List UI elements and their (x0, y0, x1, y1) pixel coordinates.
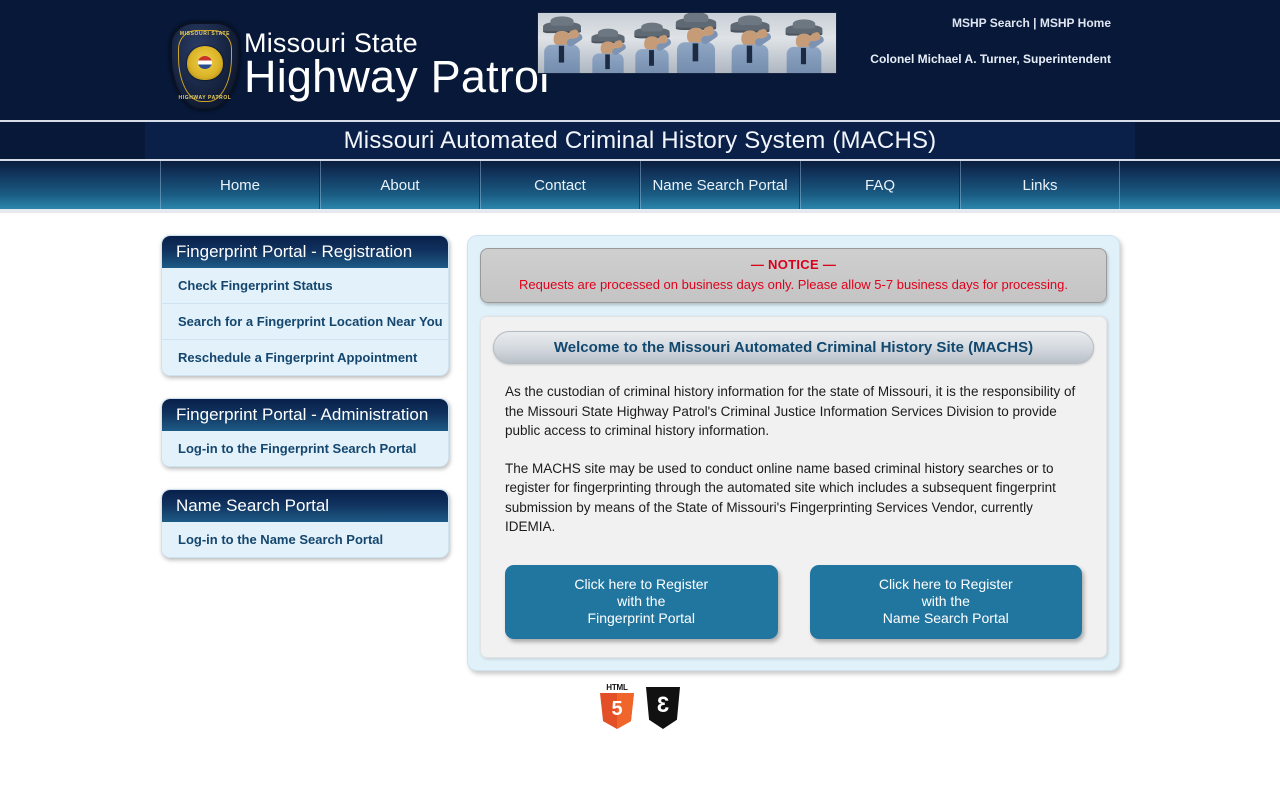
panel-header-fingerprint-registration: Fingerprint Portal - Registration (162, 236, 448, 268)
cta-button-row: Click here to Register with the Fingerpr… (505, 565, 1082, 639)
nav-item-about[interactable]: About (320, 161, 480, 209)
nav-item-home[interactable]: Home (160, 161, 320, 209)
agency-name-line2: Highway Patrol (244, 50, 549, 104)
sidebar-link-reschedule-appointment[interactable]: Reschedule a Fingerprint Appointment (162, 340, 448, 375)
mshp-home-link[interactable]: MSHP Home (1040, 16, 1111, 30)
notice-banner: — NOTICE — Requests are processed on bus… (480, 248, 1107, 303)
register-fingerprint-portal-button[interactable]: Click here to Register with the Fingerpr… (505, 565, 778, 639)
mshp-badge-icon: MISSOURI STATE HIGHWAY PATROL (170, 22, 240, 110)
welcome-heading-bar: Welcome to the Missouri Automated Crimin… (493, 331, 1094, 364)
notice-title: — NOTICE — (493, 257, 1094, 272)
system-title-bar: Missouri Automated Criminal History Syst… (0, 120, 1280, 161)
intro-paragraph-1: As the custodian of criminal history inf… (505, 382, 1082, 441)
badge-top-text: MISSOURI STATE (170, 31, 240, 37)
nav-left-spacer (0, 161, 160, 209)
nav-item-contact[interactable]: Contact (480, 161, 640, 209)
nav-item-links[interactable]: Links (960, 161, 1120, 209)
mshp-search-link[interactable]: MSHP Search (952, 16, 1030, 30)
intro-paragraph-2: The MACHS site may be used to conduct on… (505, 459, 1082, 537)
register-name-search-portal-button[interactable]: Click here to Register with the Name Sea… (810, 565, 1083, 639)
page-title: Missouri Automated Criminal History Syst… (344, 127, 937, 155)
main-navigation: Home About Contact Name Search Portal FA… (0, 161, 1280, 213)
site-header: MISSOURI STATE HIGHWAY PATROL Missouri S… (0, 0, 1280, 120)
sidebar-link-check-fingerprint-status[interactable]: Check Fingerprint Status (162, 268, 448, 304)
panel-fingerprint-registration: Fingerprint Portal - Registration Check … (161, 235, 449, 376)
html5-badge-icon[interactable]: HTML 5 (600, 683, 634, 729)
page-body: Fingerprint Portal - Registration Check … (0, 213, 1280, 796)
notice-text: Requests are processed on business days … (493, 277, 1094, 292)
nav-item-name-search-portal[interactable]: Name Search Portal (640, 161, 800, 209)
badge-emblem (187, 46, 223, 80)
sidebar-link-login-fingerprint-search-portal[interactable]: Log-in to the Fingerprint Search Portal (162, 431, 448, 466)
mshp-links: MSHP Search | MSHP Home (952, 16, 1111, 30)
footer-badges: HTML 5 3 (0, 683, 1280, 729)
superintendent-label: Colonel Michael A. Turner, Superintenden… (870, 52, 1111, 66)
panel-fingerprint-administration: Fingerprint Portal - Administration Log-… (161, 398, 449, 467)
sidebar-link-search-fingerprint-location[interactable]: Search for a Fingerprint Location Near Y… (162, 304, 448, 340)
sidebar-link-login-name-search-portal[interactable]: Log-in to the Name Search Portal (162, 522, 448, 557)
link-separator: | (1030, 16, 1040, 30)
system-title-inner: Missouri Automated Criminal History Syst… (145, 122, 1135, 159)
welcome-panel: Welcome to the Missouri Automated Crimin… (480, 316, 1107, 658)
panel-header-fingerprint-administration: Fingerprint Portal - Administration (162, 399, 448, 431)
main-content: — NOTICE — Requests are processed on bus… (467, 235, 1120, 671)
sidebar: Fingerprint Portal - Registration Check … (161, 235, 449, 580)
troopers-saluting-image (537, 12, 837, 74)
badge-bottom-text: HIGHWAY PATROL (170, 95, 240, 101)
css3-badge-icon[interactable]: 3 (646, 683, 680, 729)
nav-item-faq[interactable]: FAQ (800, 161, 960, 209)
welcome-heading-text: Welcome to the Missouri Automated Crimin… (554, 339, 1033, 356)
panel-header-name-search-portal: Name Search Portal (162, 490, 448, 522)
css3-badge-number: 3 (646, 694, 680, 716)
header-links-block: MSHP Search | MSHP Home Colonel Michael … (850, 0, 1280, 120)
html5-badge-number: 5 (600, 699, 634, 719)
panel-name-search-portal: Name Search Portal Log-in to the Name Se… (161, 489, 449, 558)
html5-badge-label: HTML (600, 683, 634, 692)
brand-block: MISSOURI STATE HIGHWAY PATROL Missouri S… (162, 0, 682, 120)
